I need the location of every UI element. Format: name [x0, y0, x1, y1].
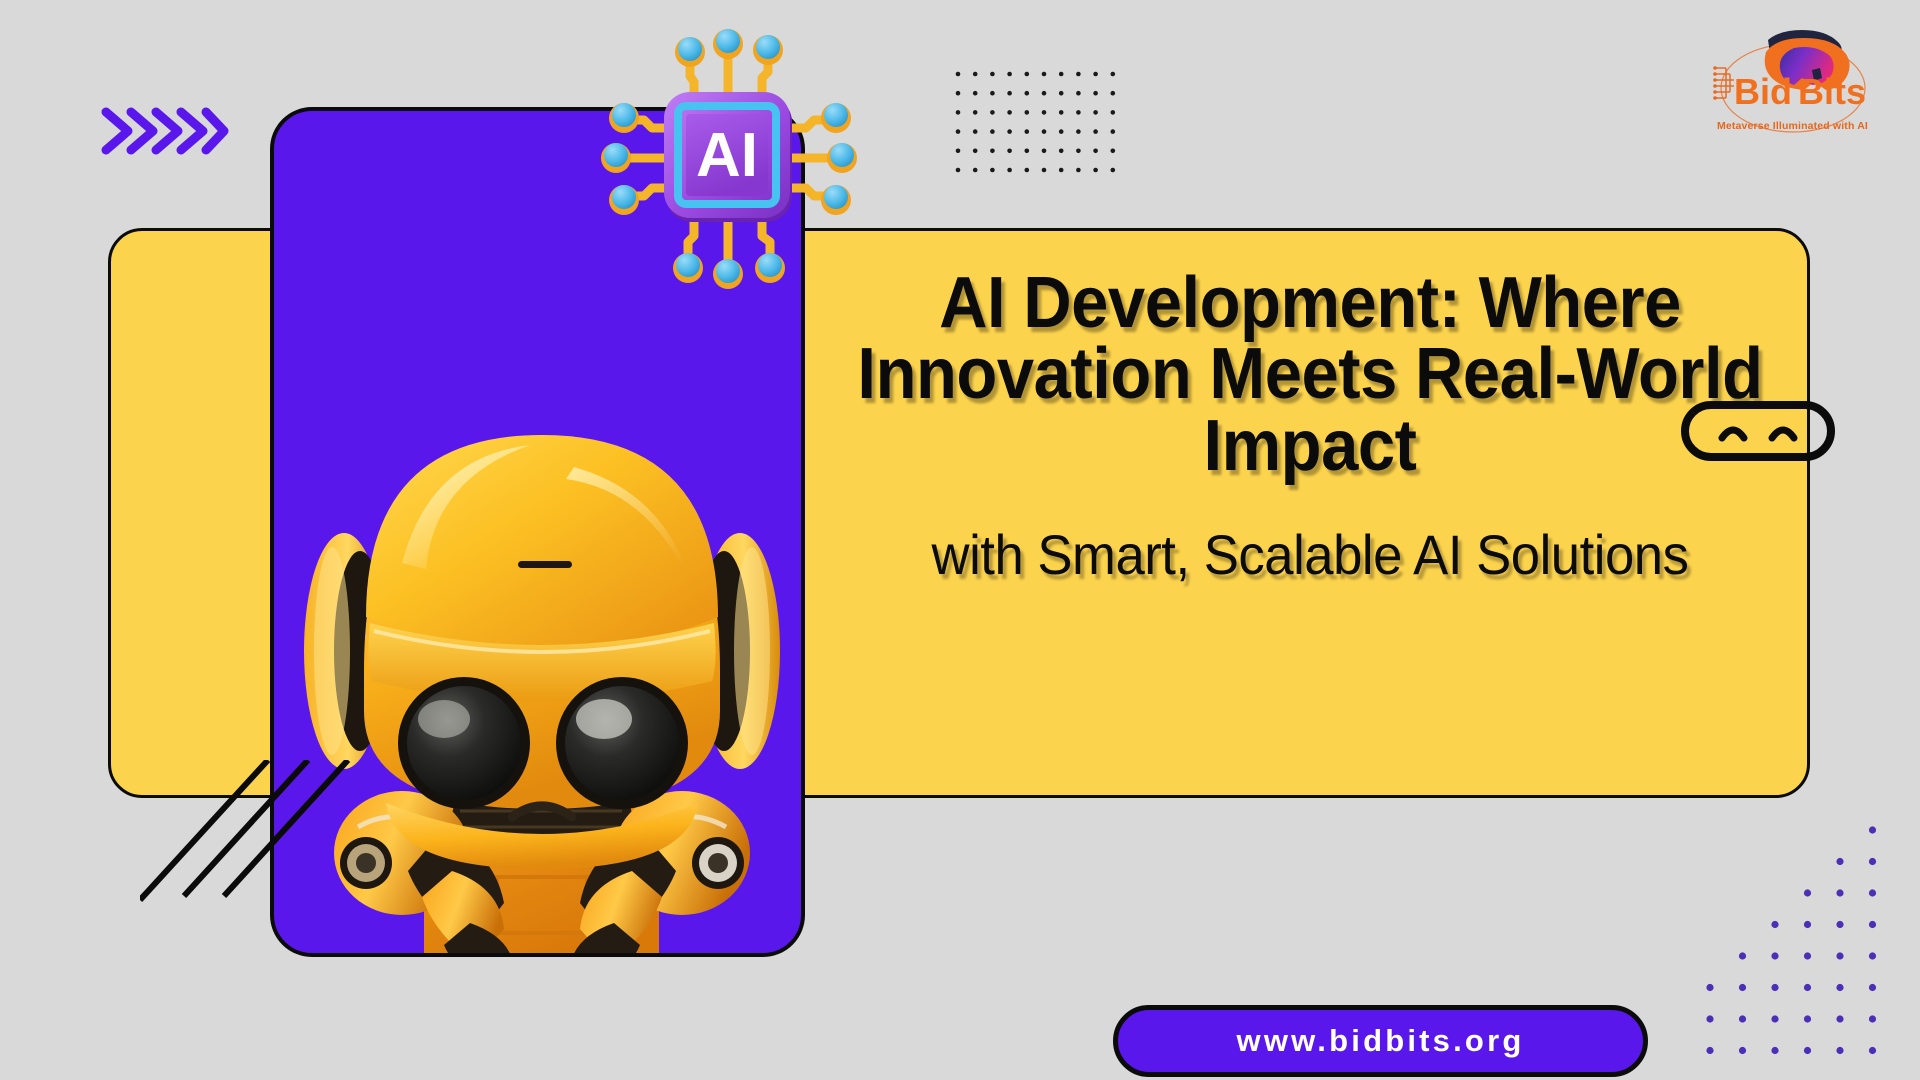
robot-face-icon: [1680, 400, 1836, 462]
logo-tagline: Metaverse Illuminated with AI: [1690, 120, 1895, 132]
brand-logo[interactable]: Bid Bits Metaverse Illuminated with AI: [1690, 22, 1895, 142]
dot-grid-pattern: [952, 66, 1122, 176]
ai-chip-icon: AI: [594, 24, 864, 299]
website-url-button[interactable]: www.bidbits.org: [1113, 1005, 1648, 1077]
logo-word-bits: Bits: [1798, 71, 1866, 112]
hero-text-block: AI Development: Where Innovation Meets R…: [810, 268, 1810, 585]
logo-word-bid: Bid: [1734, 71, 1792, 112]
poster-canvas: AI Development: Where Innovation Meets R…: [0, 0, 1920, 1080]
page-subtitle: with Smart, Scalable AI Solutions: [840, 526, 1780, 585]
diagonal-slash-lines: [140, 760, 370, 940]
website-url-label: www.bidbits.org: [1237, 1023, 1525, 1059]
triangular-dot-pattern: [1700, 820, 1915, 1075]
ai-chip-label: AI: [696, 121, 758, 190]
page-title: AI Development: Where Innovation Meets R…: [845, 268, 1775, 482]
chevron-right-arrows-icon: [100, 96, 230, 166]
